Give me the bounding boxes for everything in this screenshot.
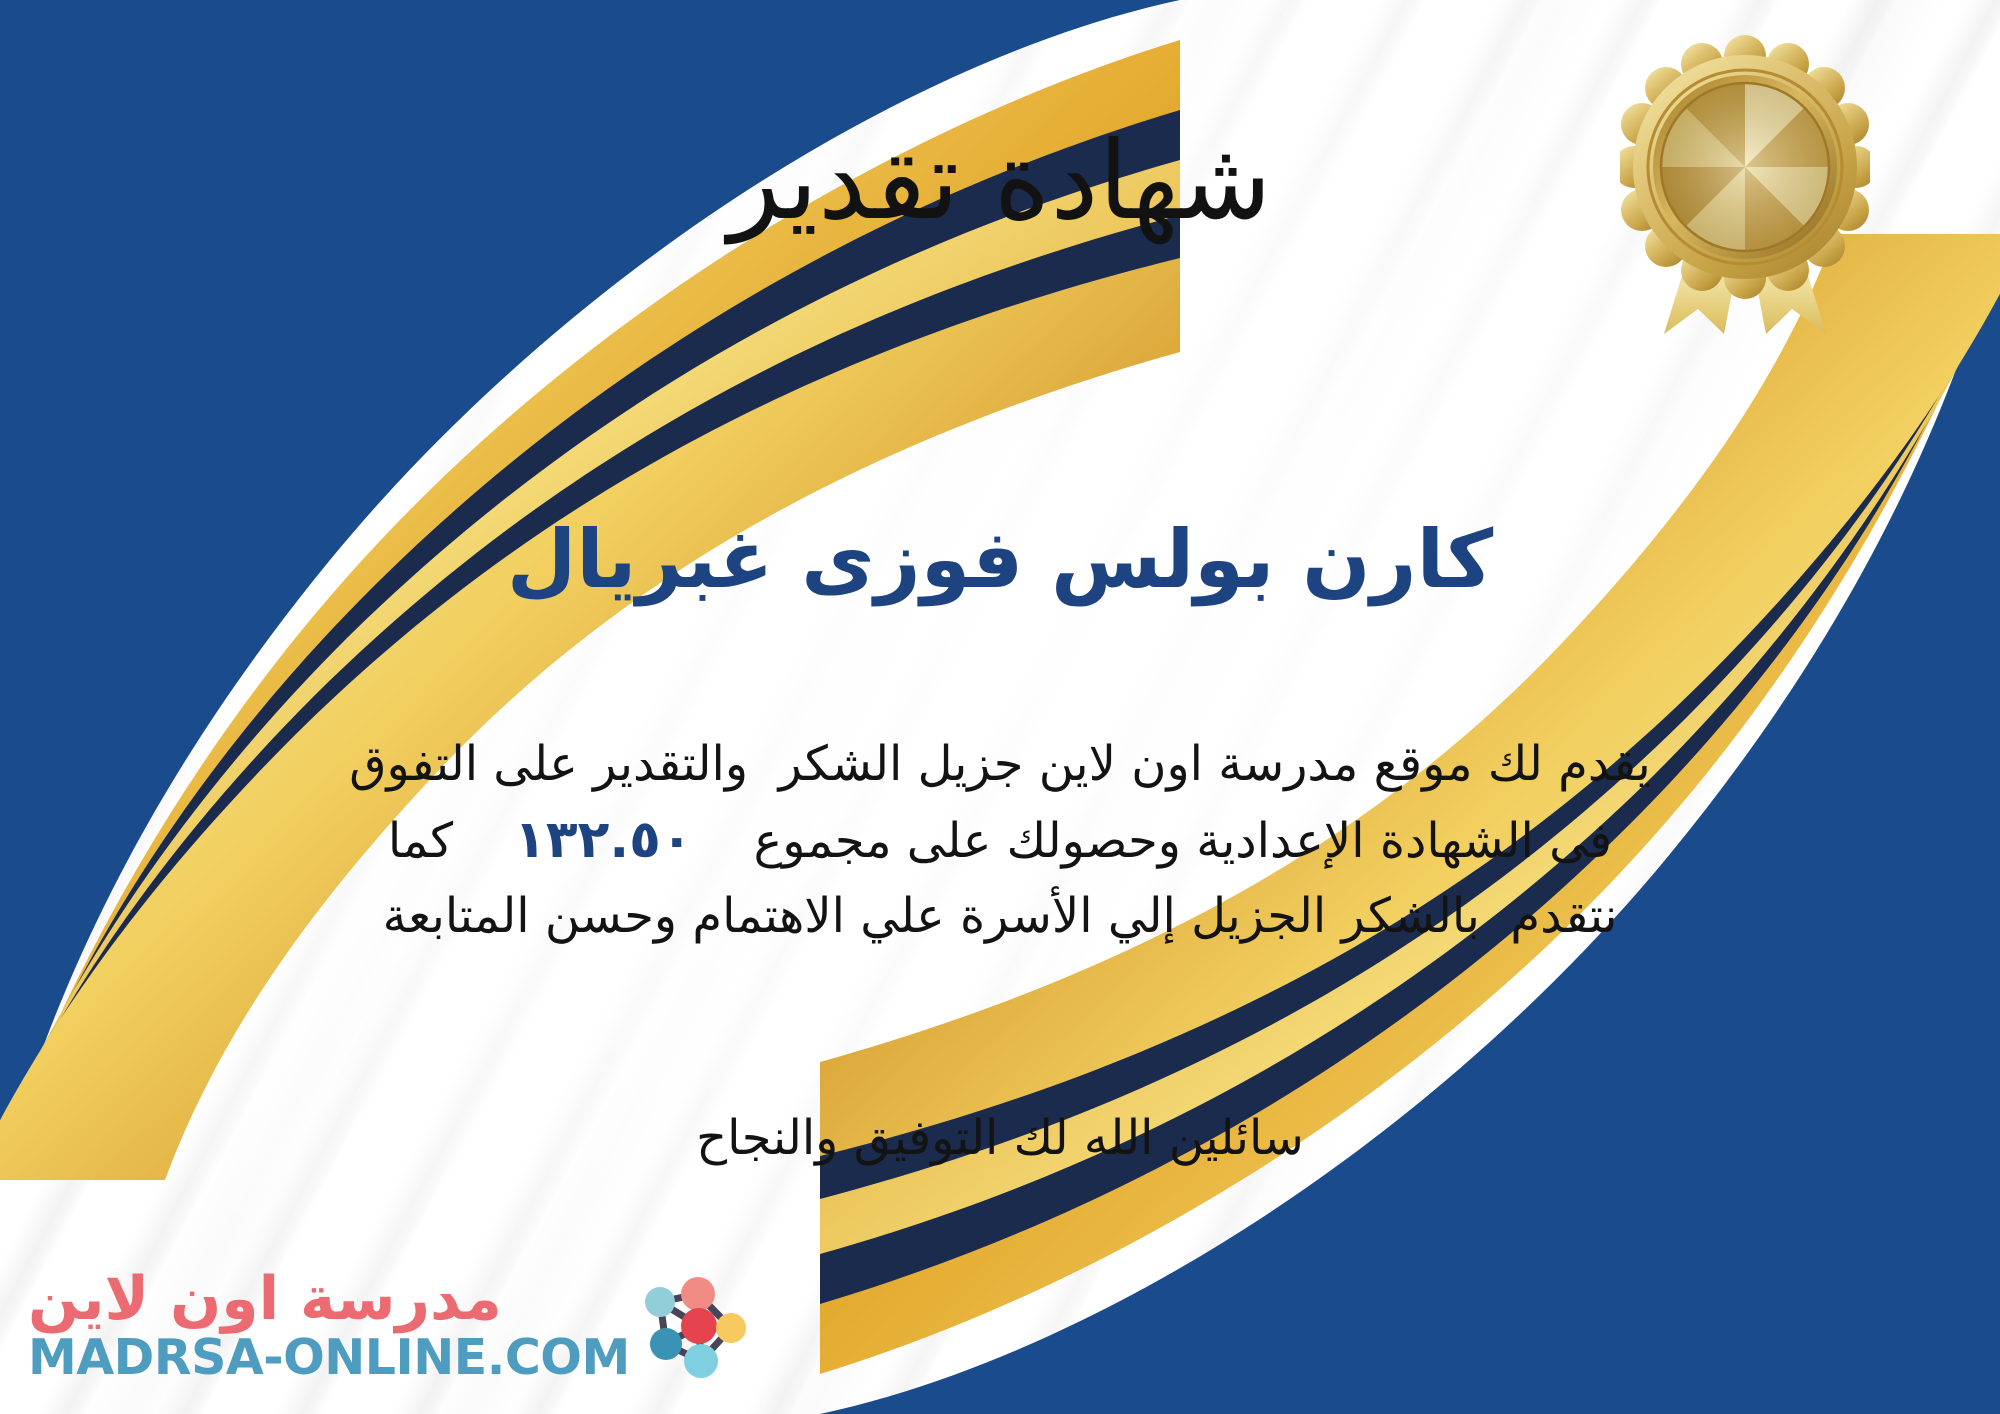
recipient-name: كارن بولس فوزى غبريال [0,512,2000,608]
body-line-3: نتقدم بالشكر الجزيل إلي الأسرة علي الاهت… [60,880,1940,953]
brand-website: MADRSA-ONLINE.COM [28,1332,630,1384]
body-line-2-prefix: فى الشهادة الإعدادية وحصولك على مجموع [693,813,1612,869]
certificate-page: شهادة تقدير كارن بولس فوزى غبريال يقدم ل… [0,0,2000,1414]
brand-name-arabic: مدرسة اون لاين [28,1268,502,1332]
body-line-1: يقدم لك موقع مدرسة اون لاين جزيل الشكر و… [60,728,1940,801]
closing-wish: سائلين الله لك التوفيق والنجاح [0,1110,2000,1166]
node-teal [650,1328,682,1360]
body-line-2: فى الشهادة الإعدادية وحصولك على مجموع ١٣… [60,801,1940,880]
node-light-blue [645,1287,675,1317]
page-title: شهادة تقدير [0,118,2000,245]
certificate-body: يقدم لك موقع مدرسة اون لاين جزيل الشكر و… [60,728,1940,953]
grade-total-value: ١٣٢.٥٠ [514,810,692,870]
node-sky [684,1344,718,1378]
brand-text-group: مدرسة اون لاين MADRSA-ONLINE.COM [28,1268,630,1384]
brand-logo[interactable]: مدرسة اون لاين MADRSA-ONLINE.COM [28,1266,758,1386]
network-nodes-icon [636,1266,756,1386]
node-red [681,1308,717,1344]
node-coral [681,1277,715,1311]
certificate-content: شهادة تقدير كارن بولس فوزى غبريال يقدم ل… [0,0,2000,1414]
body-line-2-suffix: كما [388,813,514,869]
node-yellow [716,1313,746,1343]
